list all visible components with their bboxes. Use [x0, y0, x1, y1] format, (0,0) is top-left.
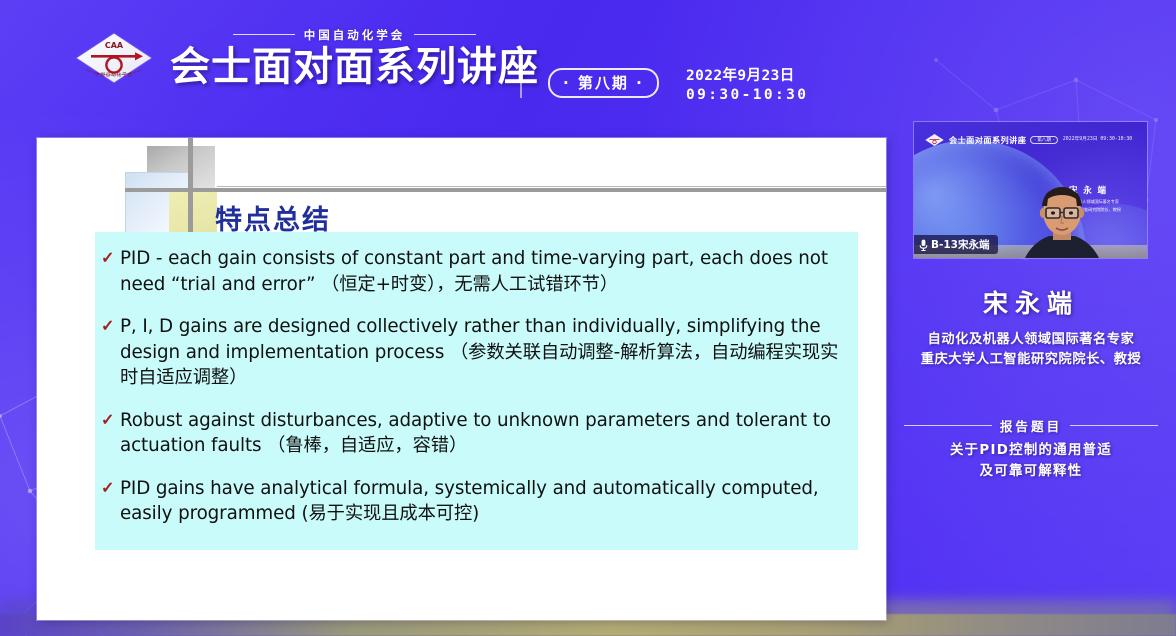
participant-label: B-13宋永端 [931, 237, 989, 252]
checkmark-icon: ✓ [101, 246, 120, 271]
association-row: 中国自动化学会 [170, 27, 539, 43]
series-title: 会士面对面系列讲座 [170, 44, 539, 90]
checkmark-icon: ✓ [101, 314, 120, 339]
rule-left [904, 425, 992, 426]
session-date: 2022年9月23日 [686, 64, 808, 85]
bullet-text: PID gains have analytical formula, syste… [120, 476, 850, 527]
banner-text-block: 中国自动化学会 会士面对面系列讲座 [170, 27, 539, 90]
participant-video-tile[interactable]: 会士面对面系列讲座 · 第八期 · 2022年9月23日 09:30-10:30… [914, 122, 1147, 258]
speaker-rail: 会士面对面系列讲座 · 第八期 · 2022年9月23日 09:30-10:30… [886, 116, 1176, 636]
participant-name-badge[interactable]: B-13宋永端 [914, 235, 998, 254]
participant-webcam-face [1023, 184, 1101, 258]
tile-banner-row: 会士面对面系列讲座 · 第八期 · 2022年9月23日 09:30-10:30 [924, 133, 1139, 147]
tile-episode-badge: · 第八期 · [1030, 136, 1058, 144]
association-name: 中国自动化学会 [304, 27, 406, 43]
session-datetime: 2022年9月23日 09:30-10:30 [686, 64, 808, 103]
webinar-stage: CAA 中国自动化学会 中国自动化学会 会士面对面系列讲座 · 第八期 · 20… [0, 0, 1176, 636]
bullet-text: Robust against disturbances, adaptive to… [120, 408, 850, 459]
rule-right [1070, 425, 1158, 426]
decoration-horizontal-rule-thin [217, 186, 886, 187]
speaker-name: 宋永端 [886, 284, 1176, 320]
bullet-item: ✓ Robust against disturbances, adaptive … [101, 408, 850, 459]
banner-divider [520, 50, 522, 98]
shared-slide[interactable]: 特点总结 ✓ PID - each gain consists of const… [37, 138, 886, 620]
session-time: 09:30-10:30 [686, 87, 808, 103]
topic-heading: 报告题目 [1000, 416, 1062, 435]
checkmark-icon: ✓ [101, 476, 120, 501]
bullet-text: PID - each gain consists of constant par… [120, 246, 850, 297]
topic-heading-row: 报告题目 [904, 416, 1158, 435]
microphone-icon [919, 239, 928, 251]
tile-series-title: 会士面对面系列讲座 [949, 134, 1026, 146]
topic-line-1: 关于PID控制的通用普适 [886, 438, 1176, 458]
episode-badge: · 第八期 · [548, 68, 659, 98]
speaker-title-line-2: 重庆大学人工智能研究院院长、教授 [886, 348, 1176, 367]
slide-canvas: 特点总结 ✓ PID - each gain consists of const… [37, 138, 886, 620]
webinar-banner: CAA 中国自动化学会 中国自动化学会 会士面对面系列讲座 [0, 0, 1176, 116]
tile-session-datetime: 2022年9月23日 09:30-10:30 [1063, 137, 1132, 143]
svg-text:中国自动化学会: 中国自动化学会 [95, 71, 133, 78]
bullet-item: ✓ P, I, D gains are designed collectivel… [101, 314, 850, 391]
caa-diamond-logo-icon: CAA 中国自动化学会 [72, 30, 156, 86]
rule-left [233, 34, 295, 35]
bullet-item: ✓ PID gains have analytical formula, sys… [101, 476, 850, 527]
svg-text:CAA: CAA [105, 41, 124, 50]
caa-diamond-logo-icon [924, 133, 945, 147]
decoration-horizontal-rule [125, 188, 886, 192]
bullet-text: P, I, D gains are designed collectively … [120, 314, 850, 391]
speaker-title-line-1: 自动化及机器人领域国际著名专家 [886, 328, 1176, 347]
rule-right [414, 34, 476, 35]
bullet-item: ✓ PID - each gain consists of constant p… [101, 246, 850, 297]
slide-content-panel: ✓ PID - each gain consists of constant p… [95, 232, 858, 550]
topic-line-2: 及可靠可解释性 [886, 459, 1176, 479]
checkmark-icon: ✓ [101, 408, 120, 433]
